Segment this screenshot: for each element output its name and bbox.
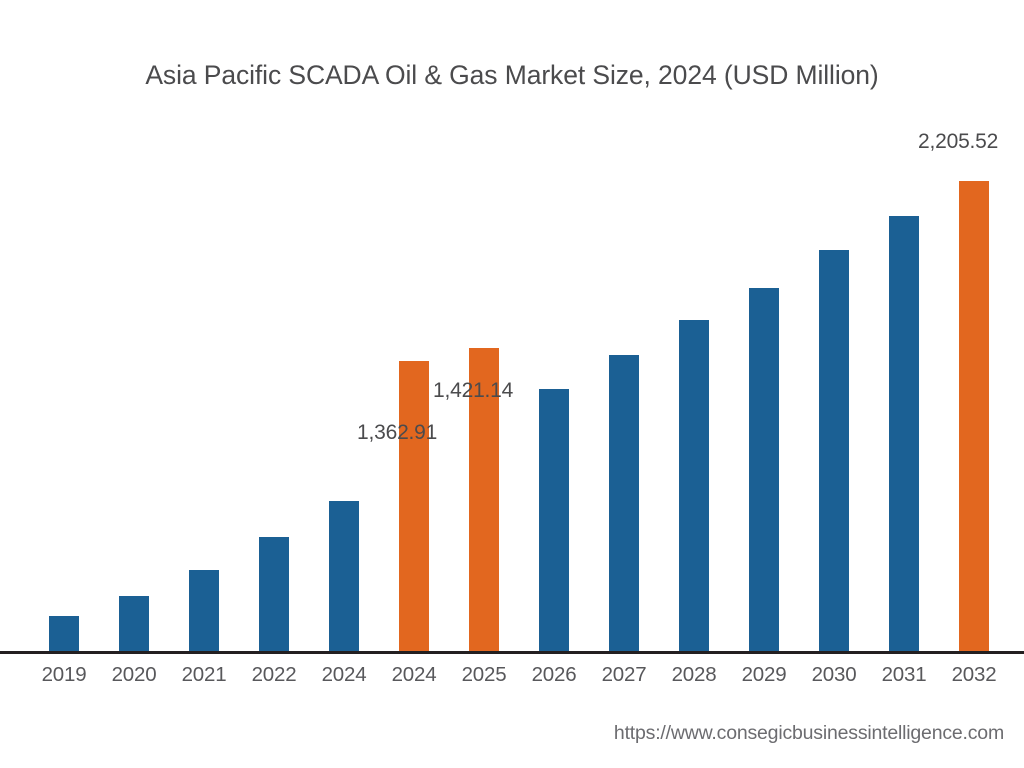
plot-area: 1,362.91 1,421.14 2,205.52 <box>0 0 1024 654</box>
x-tick-3: 2022 <box>238 663 310 687</box>
x-axis-line <box>0 651 1024 654</box>
bar-2024-highlight[interactable] <box>399 361 429 651</box>
bar-2024-base[interactable] <box>329 501 359 651</box>
data-label-2024: 1,362.91 <box>357 421 437 445</box>
bar-2026[interactable] <box>539 389 569 651</box>
bar-2028[interactable] <box>679 320 709 651</box>
bar-2032-highlight[interactable] <box>959 181 989 651</box>
bar-2022[interactable] <box>259 537 289 651</box>
x-tick-12: 2031 <box>868 663 940 687</box>
data-label-2032: 2,205.52 <box>918 130 998 154</box>
data-label-2025: 1,421.14 <box>433 379 513 403</box>
x-tick-11: 2030 <box>798 663 870 687</box>
x-axis-tick-labels: 2019 2020 2021 2022 2024 2024 2025 2026 … <box>0 663 1024 697</box>
chart-container: Asia Pacific SCADA Oil & Gas Market Size… <box>0 0 1024 768</box>
x-tick-2: 2021 <box>168 663 240 687</box>
x-tick-5: 2024 <box>378 663 450 687</box>
bar-2019[interactable] <box>49 616 79 651</box>
x-tick-0: 2019 <box>28 663 100 687</box>
bar-2027[interactable] <box>609 355 639 651</box>
x-tick-4: 2024 <box>308 663 380 687</box>
bar-2021[interactable] <box>189 570 219 651</box>
source-url-text: https://www.consegicbusinessintelligence… <box>614 722 1004 745</box>
x-tick-7: 2026 <box>518 663 590 687</box>
x-tick-10: 2029 <box>728 663 800 687</box>
x-tick-13: 2032 <box>938 663 1010 687</box>
bar-2031[interactable] <box>889 216 919 651</box>
x-tick-6: 2025 <box>448 663 520 687</box>
x-tick-9: 2028 <box>658 663 730 687</box>
bar-2020[interactable] <box>119 596 149 651</box>
x-tick-8: 2027 <box>588 663 660 687</box>
bar-2029[interactable] <box>749 288 779 651</box>
bar-2030[interactable] <box>819 250 849 651</box>
x-tick-1: 2020 <box>98 663 170 687</box>
